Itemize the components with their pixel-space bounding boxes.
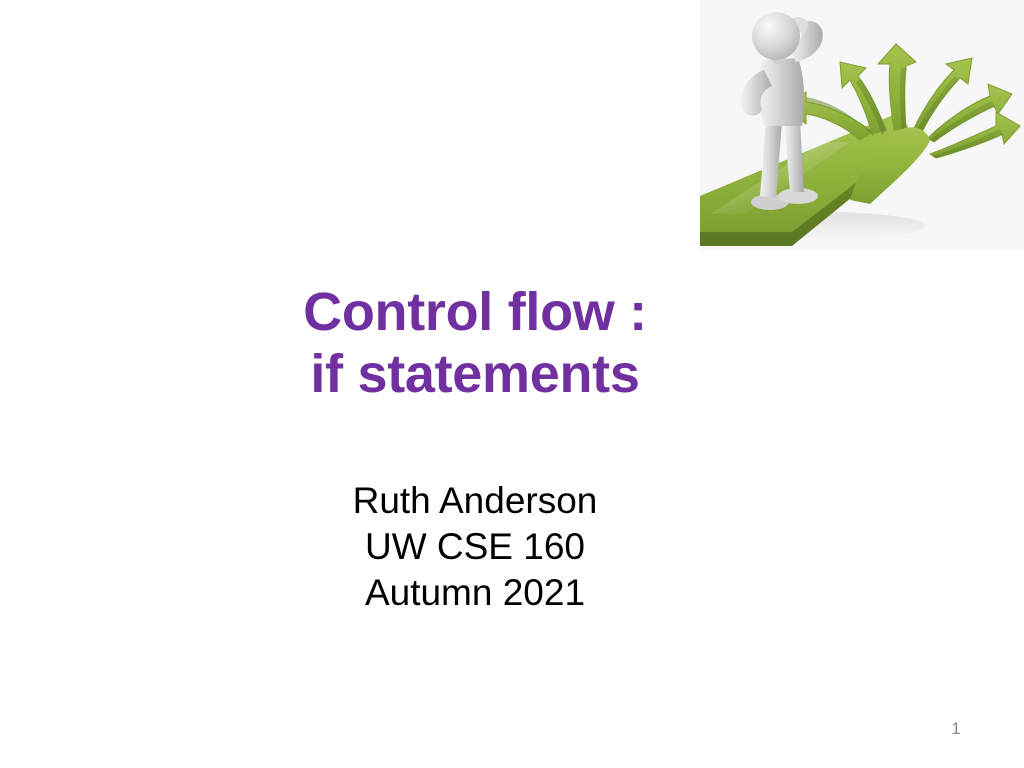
title-line-1: Control flow :: [112, 281, 838, 343]
subtitle: Ruth Anderson UW CSE 160 Autumn 2021: [112, 478, 838, 616]
page-title: Control flow : if statements: [112, 281, 838, 405]
subtitle-author: Ruth Anderson: [112, 478, 838, 524]
figure-head: [752, 12, 800, 60]
clipart-svg: [700, 0, 1024, 250]
person-at-branching-path-illustration: [700, 0, 1024, 250]
slide-canvas: Control flow : if statements Ruth Anders…: [0, 0, 1024, 768]
figure-torso: [759, 58, 804, 126]
title-line-2: if statements: [112, 343, 838, 405]
slide-page-number: 1: [930, 718, 982, 740]
subtitle-term: Autumn 2021: [112, 570, 838, 616]
subtitle-course: UW CSE 160: [112, 524, 838, 570]
